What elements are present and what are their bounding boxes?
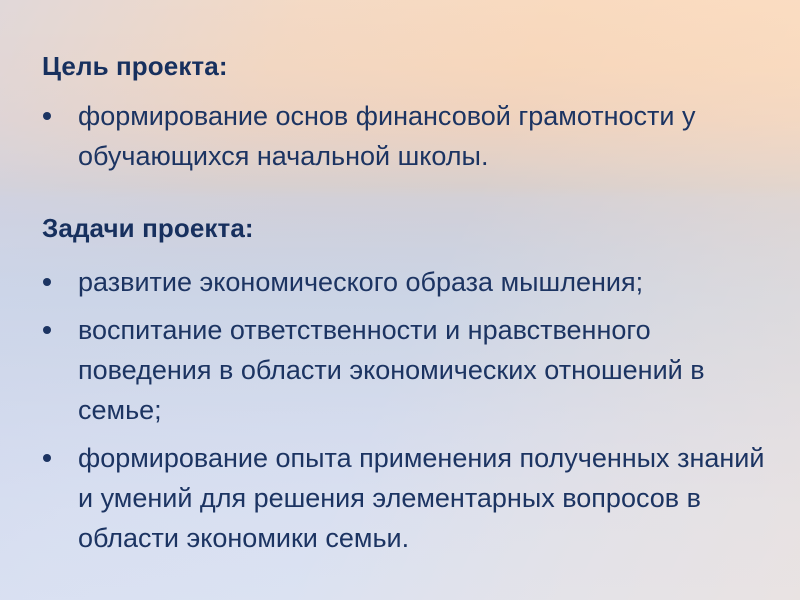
list-item: развитие экономического образа мышления; (30, 262, 770, 302)
section-heading-tasks: Задачи проекта: (30, 210, 770, 246)
round-bullet-icon (43, 326, 51, 334)
list-item-text: формирование опыта применения полученных… (78, 438, 770, 558)
round-bullet-icon (43, 278, 51, 286)
round-bullet-icon (43, 112, 51, 120)
tasks-bullet-list: развитие экономического образа мышления;… (30, 262, 770, 558)
section-heading-goal: Цель проекта: (30, 48, 770, 84)
list-item: воспитание ответственности и нравственно… (30, 310, 770, 430)
list-item: формирование опыта применения полученных… (30, 438, 770, 558)
presentation-slide: Цель проекта: формирование основ финансо… (0, 0, 800, 600)
list-item: формирование основ финансовой грамотност… (30, 96, 770, 176)
goal-bullet-list: формирование основ финансовой грамотност… (30, 96, 770, 176)
list-item-text: воспитание ответственности и нравственно… (78, 310, 770, 430)
list-item-text: развитие экономического образа мышления; (78, 262, 770, 302)
round-bullet-icon (43, 454, 51, 462)
slide-content-body: Цель проекта: формирование основ финансо… (0, 0, 800, 558)
list-item-text: формирование основ финансовой грамотност… (78, 96, 770, 176)
